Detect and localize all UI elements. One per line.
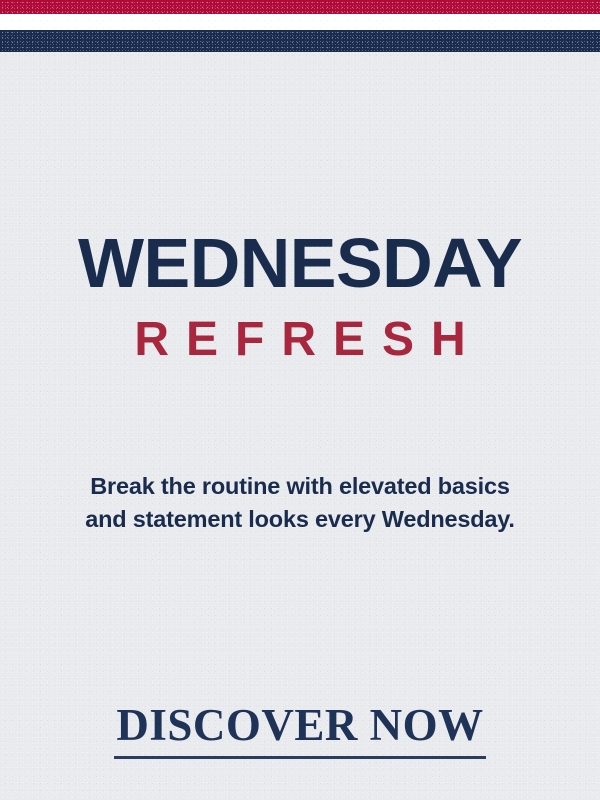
banner-content-area: WEDNESDAY REFRESH Break the routine with… — [0, 52, 600, 800]
body-copy: Break the routine with elevated basics a… — [0, 470, 600, 536]
headline-secondary: REFRESH — [0, 316, 600, 364]
promotional-email-banner: WEDNESDAY REFRESH Break the routine with… — [0, 0, 600, 800]
cta-container: DISCOVER NOW — [0, 700, 600, 759]
top-stripe-navy — [0, 30, 600, 52]
top-stripe-white — [0, 14, 600, 30]
body-copy-line-1: Break the routine with elevated basics — [0, 470, 600, 503]
body-copy-line-2: and statement looks every Wednesday. — [0, 503, 600, 536]
top-stripe-red — [0, 0, 600, 14]
discover-now-cta-link[interactable]: DISCOVER NOW — [114, 700, 485, 759]
headline-primary: WEDNESDAY — [0, 228, 600, 298]
